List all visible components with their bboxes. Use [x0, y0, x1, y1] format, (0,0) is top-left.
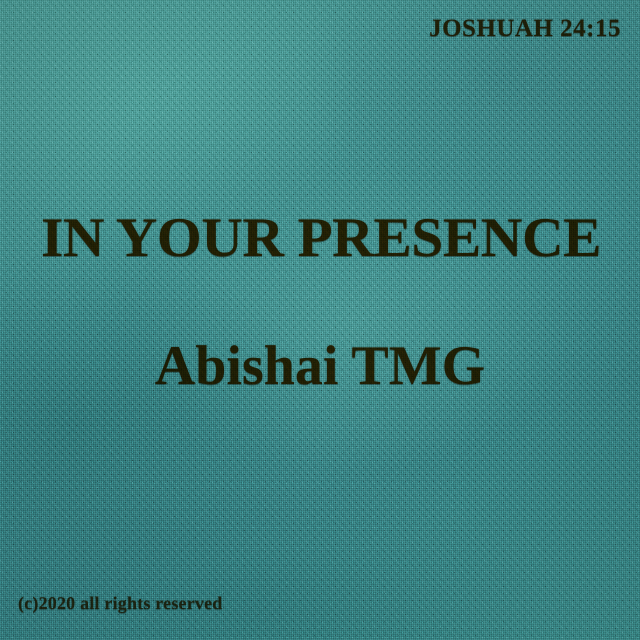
album-cover-artwork: JOSHUAH 24:15 IN YOUR PRESENCE Abishai T… — [0, 0, 640, 640]
scripture-reference: JOSHUAH 24:15 — [429, 15, 621, 43]
fabric-texture-vignette — [0, 0, 640, 640]
album-title: IN YOUR PRESENCE — [7, 206, 635, 270]
artist-name: Abishai TMG — [0, 334, 640, 398]
copyright-notice: (c)2020 all rights reserved — [18, 593, 223, 614]
